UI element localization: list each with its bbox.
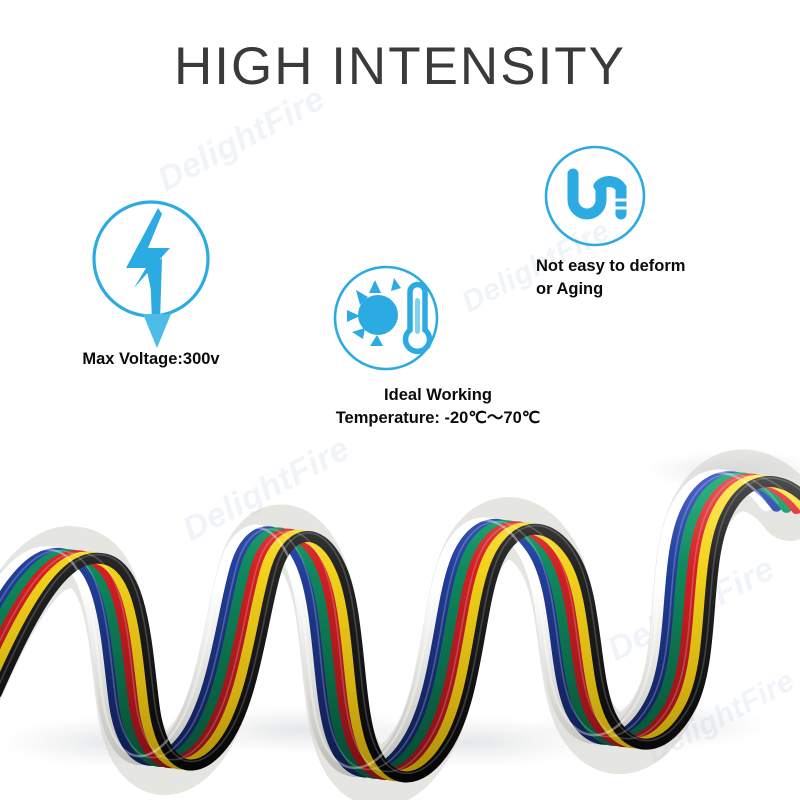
label-line: Not easy to deform — [536, 255, 776, 278]
lightning-bolt-icon — [88, 196, 214, 361]
label-line: Ideal Working — [288, 384, 588, 407]
sun-thermometer-icon — [330, 262, 442, 374]
cable-conductors — [0, 473, 800, 777]
label-line: Temperature: -20℃～70℃ — [288, 407, 588, 430]
feature-label-not-deform: Not easy to deform or Aging — [536, 255, 776, 302]
feature-label-max-voltage: Max Voltage:300v — [56, 348, 246, 371]
bend-flex-icon — [541, 142, 649, 250]
feature-label-working-temperature: Ideal Working Temperature: -20℃～70℃ — [288, 384, 588, 431]
product-feature-graphic: DelightFireDelightFireDelightFireDelight… — [0, 0, 800, 800]
label-line: or Aging — [536, 278, 776, 301]
label-line: Max Voltage:300v — [56, 348, 246, 371]
